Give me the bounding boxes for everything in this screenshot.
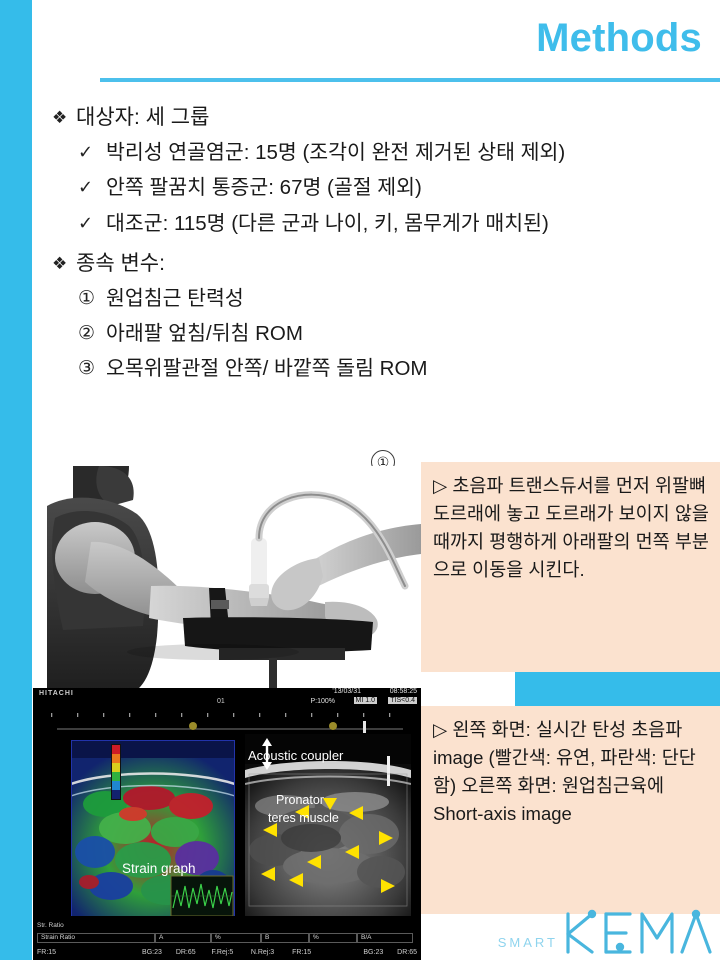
list-item: ① 원업침근 탄력성 <box>78 285 712 313</box>
col-ba-cell: B/A <box>357 933 413 943</box>
title-underline-rule <box>100 78 720 82</box>
circled-number-icon: ② <box>78 320 106 347</box>
left-accent-bar <box>0 0 32 960</box>
list-item: ✓ 대조군: 115명 (다른 군과 나이, 키, 몸무게가 매치된) <box>78 210 712 238</box>
strain-ratio-cell: Strain Ratio <box>37 933 155 943</box>
stat-fr-left: FR:15 <box>37 949 142 956</box>
list-item-label: 오목위팔관절 안쪽/ 바깥쪽 돌림 ROM <box>106 355 427 383</box>
pronator-label-line2: teres muscle <box>268 811 339 825</box>
slide-root: Methods ❖ 대상자: 세 그룹 ✓ 박리성 연골염군: 15명 (조각이… <box>0 0 720 960</box>
ultrasound-tick-ruler <box>33 711 421 719</box>
list-item-label: 박리성 연골염군: 15명 (조각이 완전 제거된 상태 제외) <box>106 139 565 167</box>
ultrasound-midline-markers <box>33 721 421 733</box>
stat-nrej: N.Rej:3 <box>251 949 292 956</box>
stat-dr-right: DR:65 <box>397 949 417 956</box>
content-body: ❖ 대상자: 세 그룹 ✓ 박리성 연골염군: 15명 (조각이 완전 제거된 … <box>52 104 712 391</box>
ultrasound-header: HITACHI 01 '13/03/31 08:58:25 P:100% MI … <box>33 688 421 710</box>
page-title: Methods <box>536 18 702 58</box>
check-bullet-icon: ✓ <box>78 139 106 165</box>
ultrasound-screenshot: HITACHI 01 '13/03/31 08:58:25 P:100% MI … <box>33 688 421 960</box>
stat-frej: F.Rej:5 <box>211 949 250 956</box>
col-b-cell: B <box>261 933 309 943</box>
stat-bg-right: BG:23 <box>363 949 397 956</box>
callout-screen-description: ▷ 왼쪽 화면: 실시간 탄성 초음파 image (빨간색: 유연, 파란색:… <box>421 706 720 914</box>
stat-fr-right: FR:15 <box>292 949 363 956</box>
diamond-bullet-icon: ❖ <box>52 104 76 129</box>
logo-smart-label: SMART <box>498 935 558 956</box>
pronator-label-line1: Pronator <box>276 793 324 807</box>
section-heading-dependent-variables: ❖ 종속 변수: <box>52 250 712 279</box>
strain-graph-label: Strain graph <box>122 861 196 876</box>
list-item-label: 아래팔 엎침/뒤침 ROM <box>106 320 303 348</box>
procedure-photo-graphic <box>33 466 421 694</box>
diamond-bullet-icon: ❖ <box>52 250 76 275</box>
acquisition-time-label: 08:58:25 <box>390 688 417 695</box>
col-a-cell: A <box>155 933 211 943</box>
blue-divider-block <box>515 672 720 706</box>
circled-number-icon: ① <box>78 285 106 312</box>
hitachi-brand-label: HITACHI <box>39 690 74 697</box>
list-item-label: 안쪽 팔꿈치 통증군: 67명 (골절 제외) <box>106 174 422 202</box>
ultrasound-stats-row: FR:15 BG:23 DR:65 F.Rej:5 N.Rej:3 FR:15 … <box>37 949 417 956</box>
section-heading-subjects: ❖ 대상자: 세 그룹 <box>52 104 712 133</box>
acoustic-coupler-label: Acoustic coupler <box>248 748 343 763</box>
kema-wordmark-icon <box>562 908 712 956</box>
procedure-photo <box>33 466 421 694</box>
ultrasound-footer: Str. Ratio Strain Ratio A % B % B/A FR:1… <box>33 916 421 960</box>
mechanical-index-badge: MI 1.0 <box>354 697 377 704</box>
list-item-label: 대조군: 115명 (다른 군과 나이, 키, 몸무게가 매치된) <box>106 210 549 238</box>
stat-bg-left: BG:23 <box>142 949 176 956</box>
circled-number-icon: ③ <box>78 355 106 382</box>
power-label: P:100% <box>310 698 335 705</box>
list-item: ③ 오목위팔관절 안쪽/ 바깥쪽 돌림 ROM <box>78 355 712 383</box>
section-heading-label: 종속 변수: <box>76 250 165 279</box>
col-pct1-cell: % <box>211 933 261 943</box>
col-pct2-cell: % <box>309 933 357 943</box>
list-item: ✓ 박리성 연골염군: 15명 (조각이 완전 제거된 상태 제외) <box>78 139 712 167</box>
acquisition-date-label: '13/03/31 <box>332 688 361 695</box>
section-heading-label: 대상자: 세 그룹 <box>76 104 209 133</box>
str-ratio-label: Str. Ratio <box>37 922 64 929</box>
smart-kema-logo: SMART <box>498 908 712 956</box>
list-item: ✓ 안쪽 팔꿈치 통증군: 67명 (골절 제외) <box>78 174 712 202</box>
stat-dr-left: DR:65 <box>176 949 212 956</box>
check-bullet-icon: ✓ <box>78 174 106 200</box>
list-item-label: 원업침근 탄력성 <box>106 285 244 313</box>
probe-id-label: 01 <box>217 698 225 705</box>
check-bullet-icon: ✓ <box>78 210 106 236</box>
list-item: ② 아래팔 엎침/뒤침 ROM <box>78 320 712 348</box>
elastography-color-pane <box>71 740 235 920</box>
strain-ratio-table: Strain Ratio A % B % B/A <box>37 932 417 943</box>
thermal-index-badge: TIS<0.4 <box>388 697 417 704</box>
callout-transducer-placement: ▷ 초음파 트랜스듀서를 먼저 위팔뼈 도르래에 놓고 도르래가 보이지 않을 … <box>421 462 720 672</box>
